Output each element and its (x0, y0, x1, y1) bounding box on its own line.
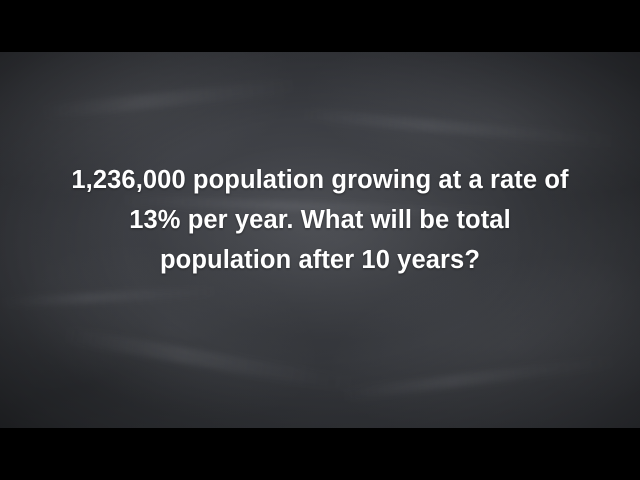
chalk-streak (300, 108, 620, 148)
letterbox-bar-bottom (0, 428, 640, 480)
problem-line-3: population after 10 years? (0, 240, 640, 280)
chalkboard-background: 1,236,000 population growing at a rate o… (0, 52, 640, 428)
problem-statement: 1,236,000 population growing at a rate o… (0, 160, 640, 280)
letterbox-bar-top (0, 0, 640, 52)
chalk-streak (340, 355, 619, 401)
chalk-streak (0, 286, 220, 308)
problem-line-1: 1,236,000 population growing at a rate o… (0, 160, 640, 200)
chalk-streak (61, 326, 359, 394)
chalk-streak (40, 78, 300, 119)
problem-line-2: 13% per year. What will be total (0, 200, 640, 240)
video-frame: 1,236,000 population growing at a rate o… (0, 0, 640, 480)
